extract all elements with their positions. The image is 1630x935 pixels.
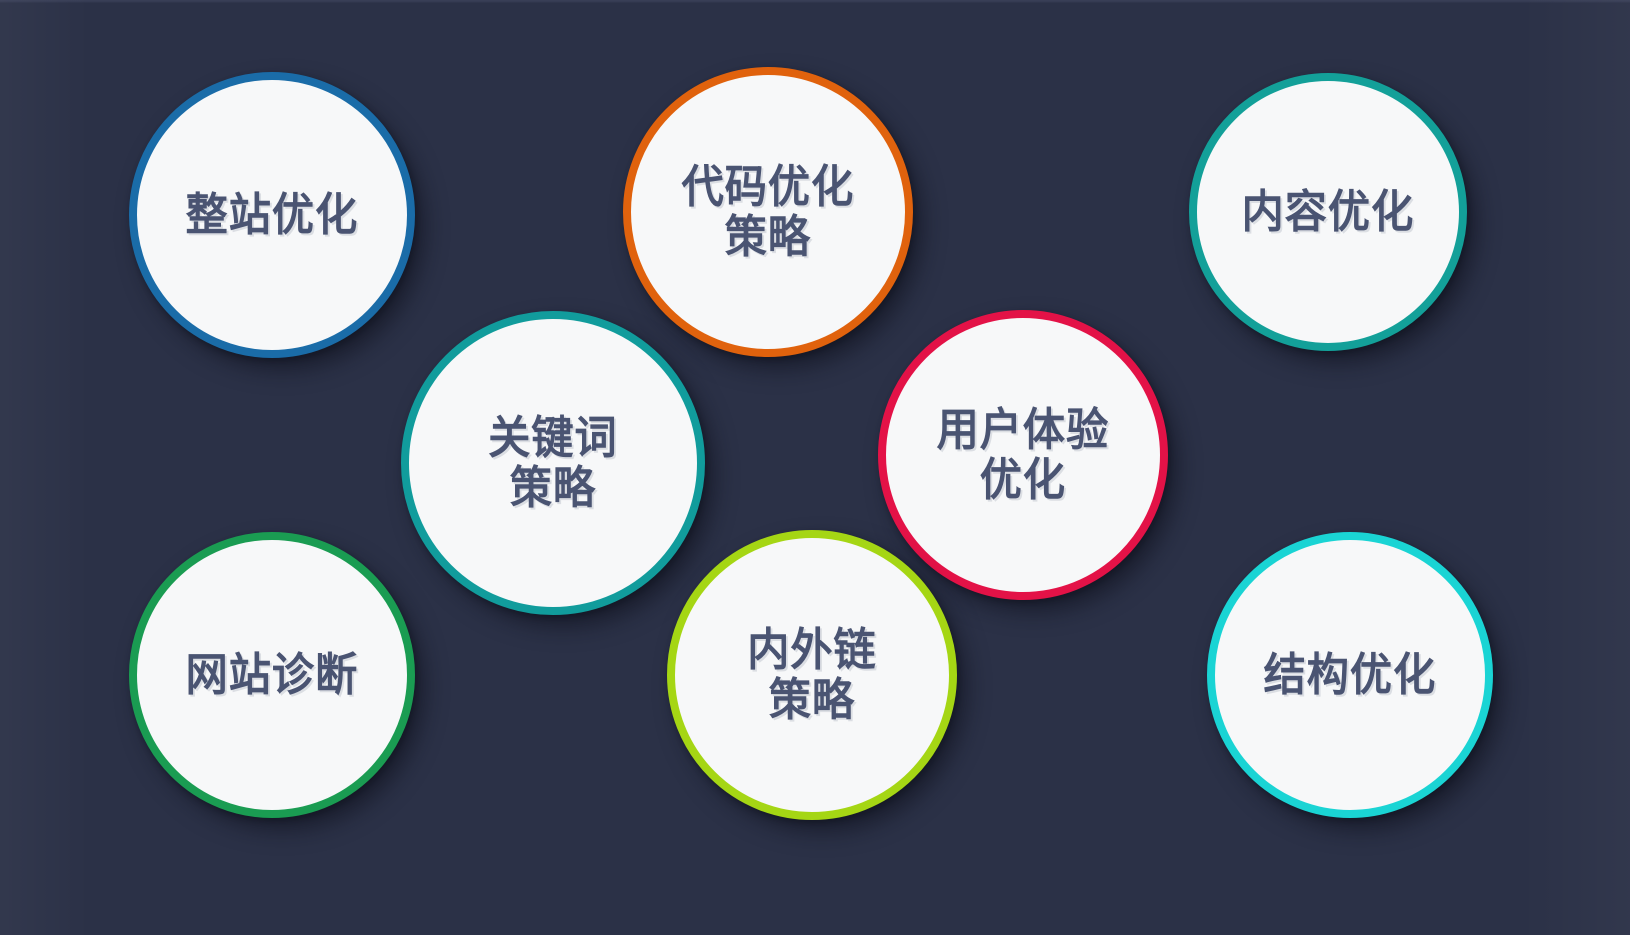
bubble-website-diagnosis[interactable]: 网站诊断 [129,532,415,818]
bubble-label-website-diagnosis: 网站诊断 [180,650,364,700]
bubble-structure-optimization[interactable]: 结构优化 [1207,532,1493,818]
bubble-code-optimization-strategy[interactable]: 代码优化 策略 [623,67,913,357]
top-edge-highlight [0,0,1630,3]
bubble-internal-external-link-strategy[interactable]: 内外链 策略 [667,530,957,820]
bubble-label-content-optimization: 内容优化 [1236,187,1420,237]
bubble-label-whole-site-optimization: 整站优化 [180,190,364,240]
bubble-label-user-experience-optimization: 用户体验 优化 [931,405,1115,506]
bubble-user-experience-optimization[interactable]: 用户体验 优化 [878,310,1168,600]
bubble-label-internal-external-link-strategy: 内外链 策略 [742,625,883,726]
bubble-label-structure-optimization: 结构优化 [1258,650,1442,700]
bubble-content-optimization[interactable]: 内容优化 [1189,73,1467,351]
bubble-whole-site-optimization[interactable]: 整站优化 [129,72,415,358]
bubble-diagram-canvas: 整站优化代码优化 策略内容优化关键词 策略用户体验 优化网站诊断内外链 策略结构… [0,0,1630,935]
bubble-label-keyword-strategy: 关键词 策略 [483,413,624,514]
bubble-keyword-strategy[interactable]: 关键词 策略 [401,311,705,615]
bubble-label-code-optimization-strategy: 代码优化 策略 [676,162,860,263]
